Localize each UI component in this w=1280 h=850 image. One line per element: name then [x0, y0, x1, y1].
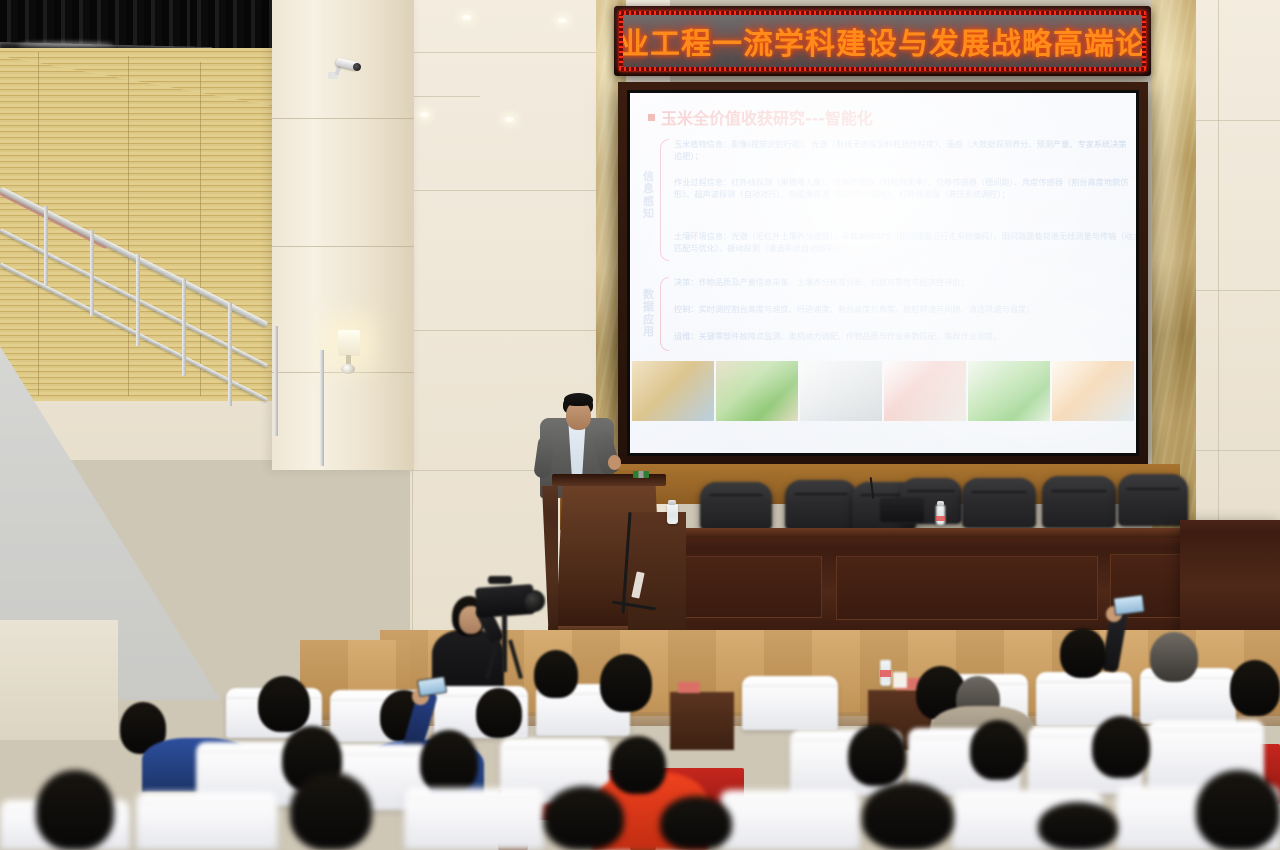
chair-cover — [742, 676, 838, 730]
chair-cover — [720, 790, 860, 850]
stage-monitor — [880, 498, 924, 522]
attendee-head — [420, 730, 478, 794]
bottle-label — [936, 516, 945, 521]
slat-seam — [128, 56, 129, 396]
speaker-hair-top — [564, 393, 593, 406]
stair-baluster — [44, 206, 48, 286]
slide-thumbnail — [632, 361, 714, 421]
section-brace-1 — [660, 139, 669, 261]
wall-lower-left — [0, 620, 118, 740]
slide-bullet-1-3: 土壤环境信息：光谱（近红外土壤养分速测）、车载高频GPS（田间路面沿行走系统编码… — [674, 231, 1136, 255]
attendee-head — [1196, 770, 1280, 850]
wall-tile-seam — [1190, 120, 1280, 121]
slide-title-text: 玉米全价值收获研究---智能化 — [661, 105, 873, 129]
slide-thumbnail-strip — [632, 361, 1134, 421]
water-bottle-side — [667, 504, 678, 524]
downlight — [420, 112, 429, 117]
front-side-table-left — [670, 692, 734, 750]
wall-tile-seam — [1218, 0, 1219, 560]
slide-bullet-1-1: 玉米植物信息：影像(视觉识别行距)、光谱（射线无损探测籽粒损伤程度）、遥感（大数… — [674, 139, 1129, 163]
wall-tile-seam — [1190, 290, 1280, 291]
water-bottle — [936, 505, 945, 525]
attendee-head — [600, 654, 652, 712]
attendee-head — [258, 676, 310, 732]
stage-chair — [1118, 474, 1188, 526]
slat-seam — [38, 52, 39, 396]
sconce-base — [341, 364, 355, 374]
curtain-highlight — [18, 42, 114, 47]
section-label-2: 数据应用 — [642, 289, 655, 338]
projection-screen-frame: 玉米全价值收获研究---智能化 信息感知 玉米植物信息：影像(视觉识别行距)、光… — [618, 82, 1148, 464]
attendee-head — [1092, 716, 1150, 778]
phone-device — [1113, 594, 1145, 616]
stair-baluster — [136, 254, 140, 346]
attendee-head — [476, 688, 522, 738]
stage-desk-panel — [836, 556, 1098, 620]
stage-chair — [1042, 476, 1116, 528]
attendee-head-grey — [1150, 632, 1198, 682]
attendee-head — [534, 650, 578, 698]
slide-thumbnail — [884, 361, 966, 421]
travertine-pillar-right — [1152, 0, 1196, 540]
slide-thumbnail — [1052, 361, 1134, 421]
stair-baluster — [228, 302, 232, 406]
wall-right — [1190, 0, 1280, 560]
led-banner-screen: 农业工程一流学科建设与发展战略高端论坛 — [623, 15, 1142, 67]
podium-logo-emblem — [633, 471, 649, 478]
attendee-head — [1060, 628, 1106, 678]
downlight — [505, 117, 514, 122]
led-banner-frame: 农业工程一流学科建设与发展战略高端论坛 — [618, 10, 1147, 72]
chair-cover — [136, 792, 278, 850]
section-label-1: 信息感知 — [642, 171, 655, 220]
downlight — [558, 18, 567, 23]
slide-title: 玉米全价值收获研究---智能化 — [648, 105, 873, 129]
stage-desk-panel — [674, 556, 822, 618]
attendee-head — [290, 772, 372, 850]
stair-baluster — [320, 350, 324, 466]
front-table-white-item — [893, 672, 907, 688]
chair-cover — [404, 788, 544, 850]
attendee-head — [610, 736, 666, 794]
attendee-head — [660, 796, 732, 850]
stair-baluster — [182, 278, 186, 376]
attendee-head — [848, 724, 906, 786]
presentation-slide: 玉米全价值收获研究---智能化 信息感知 玉米植物信息：影像(视觉识别行距)、光… — [630, 93, 1136, 453]
stage-chair — [700, 482, 772, 530]
projection-screen-inner: 玉米全价值收获研究---智能化 信息感知 玉米植物信息：影像(视觉识别行距)、光… — [627, 90, 1139, 456]
slide-thumbnail — [716, 361, 798, 421]
stair-baluster — [90, 230, 94, 316]
wall-tile-seam — [1190, 450, 1280, 451]
attendee-head — [862, 782, 954, 850]
led-banner-text: 农业工程一流学科建设与发展战略高端论坛 — [623, 19, 1142, 63]
camcorder-microphone — [488, 576, 512, 584]
slide-thumbnail — [968, 361, 1050, 421]
slide-bullet-2-1: 决策：作物品质及产量信息采集、土壤养分精准分析、机器可靠性与经济性评价； — [674, 277, 1136, 289]
bottle-cap — [937, 501, 944, 506]
auditorium-photo: 农业工程一流学科建设与发展战略高端论坛 玉米全价值收获研究---智能化 信息感知… — [0, 0, 1280, 850]
marble-column — [272, 0, 414, 470]
front-table-red-item — [678, 682, 700, 693]
attendee-head — [970, 720, 1026, 780]
tripod-leg — [502, 614, 507, 672]
attendee-head — [1038, 802, 1118, 850]
camcorder-lens — [523, 590, 545, 612]
cctv-lens-icon — [353, 63, 361, 71]
section-brace-2 — [660, 277, 669, 351]
attendee-head — [544, 786, 624, 850]
stair-baluster — [274, 326, 278, 436]
led-banner: 农业工程一流学科建设与发展战略高端论坛 — [614, 6, 1151, 76]
slide-bullet-1-2: 作业过程信息：红外线探测（果穗喂入量）、压电传感器（籽粒损失率）、位移传感器（穗… — [674, 177, 1136, 201]
front-table-bottle-label — [880, 670, 891, 677]
column-seam — [272, 118, 414, 119]
slide-bullet-2-2: 控制：实时调控割台高度与速度、行进速度、割台高度与角度、脱粒转速与间隙、清选风速… — [674, 304, 1136, 316]
stage-chair — [785, 480, 857, 530]
downlight — [462, 15, 471, 20]
stage-desk-right-return — [1180, 520, 1280, 640]
column-seam — [272, 246, 414, 247]
slide-thumbnail — [800, 361, 882, 421]
slide-bullet-2-3: 运维：关键零部件故障点监测、发机动力调配、作物品质与作业参数匹配、集群作业调度。 — [674, 331, 1136, 343]
wall-sconce-light — [338, 330, 360, 356]
attendee-head — [36, 770, 114, 850]
speaker-hand — [608, 455, 621, 470]
stage-chair — [962, 478, 1036, 528]
slat-seam — [200, 62, 201, 396]
bottle-cap — [668, 500, 676, 505]
slide-title-bullet-icon — [648, 114, 655, 121]
attendee-head — [1230, 660, 1280, 716]
